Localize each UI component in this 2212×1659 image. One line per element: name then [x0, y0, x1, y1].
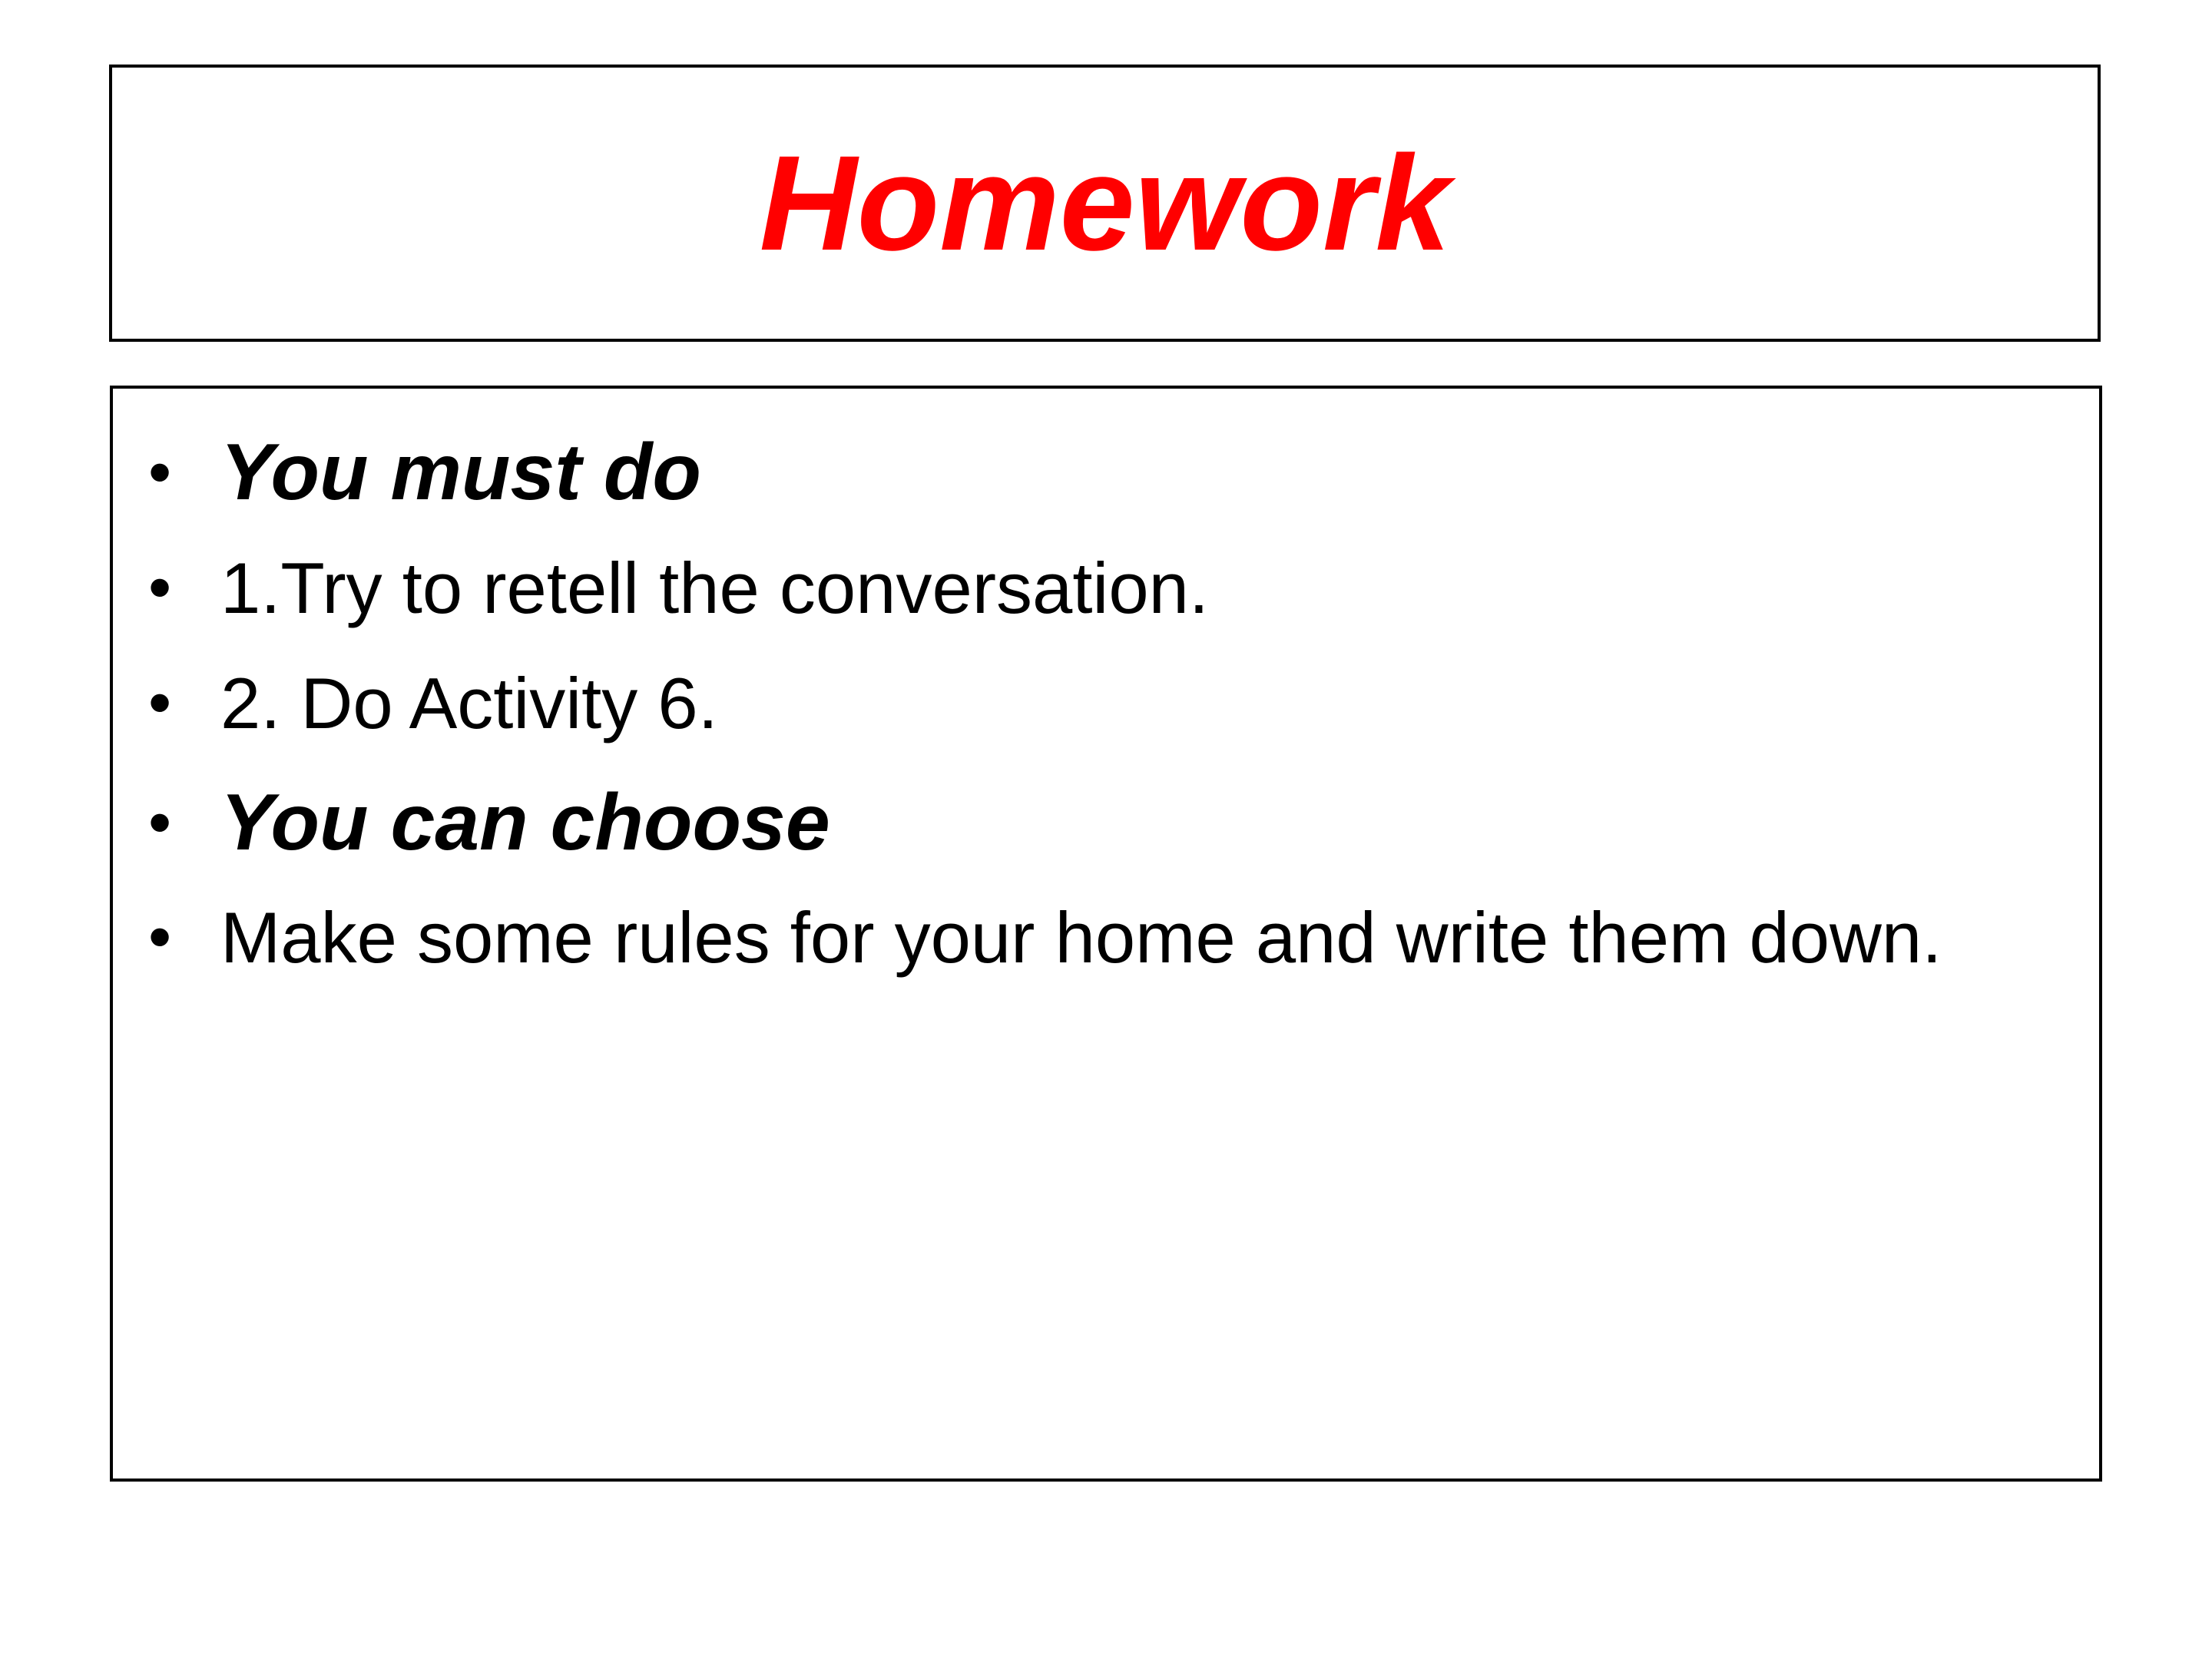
list-item-label: You must do [220, 416, 2076, 530]
list-item: • Make some rules for your home and writ… [136, 886, 2076, 988]
bullet-point-icon: • [136, 416, 220, 530]
list-item-label: Make some rules for your home and write … [220, 886, 2010, 988]
bullet-point-icon: • [136, 767, 220, 880]
content-box: • You must do • 1.Try to retell the conv… [110, 386, 2102, 1482]
list-item: • You can choose [136, 767, 2076, 880]
list-item: • 2. Do Activity 6. [136, 651, 2076, 756]
list-item: • 1.Try to retell the conversation. [136, 536, 2076, 641]
title-box: Homework [109, 65, 2101, 342]
slide-canvas: Homework • You must do • 1.Try to retell… [0, 0, 2212, 1659]
bullet-point-icon: • [136, 536, 220, 641]
list-item: • You must do [136, 416, 2076, 530]
page-title: Homework [760, 136, 1451, 271]
list-item-label: 2. Do Activity 6. [220, 651, 2076, 755]
bullet-point-icon: • [136, 886, 220, 988]
bullet-list: • You must do • 1.Try to retell the conv… [136, 416, 2076, 988]
list-item-label: 1.Try to retell the conversation. [220, 536, 2076, 640]
bullet-point-icon: • [136, 651, 220, 756]
list-item-label: You can choose [220, 767, 2076, 880]
